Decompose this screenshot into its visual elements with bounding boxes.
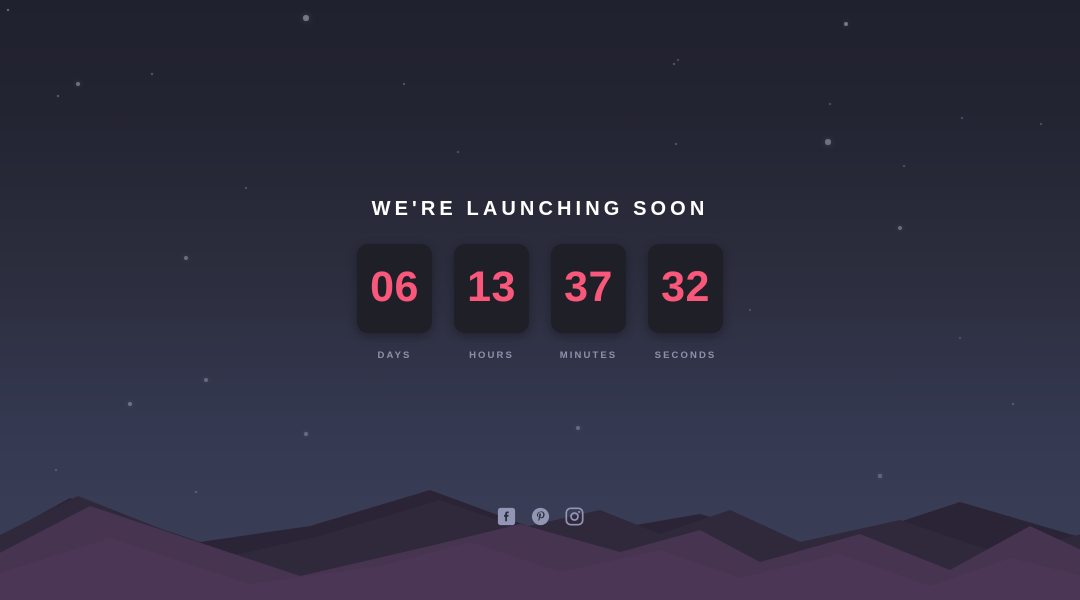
countdown-value: 13 (467, 266, 516, 309)
countdown-label: MINUTES (560, 350, 617, 361)
countdown-card: 37 (551, 244, 626, 333)
countdown-timer: 06DAYS13HOURS37MINUTES32SECONDS (346, 244, 734, 361)
facebook-icon[interactable] (497, 507, 516, 526)
countdown-card: 13 (454, 244, 529, 333)
countdown-value: 32 (661, 266, 710, 309)
launching-soon-page: WE'RE LAUNCHING SOON 06DAYS13HOURS37MINU… (0, 0, 1080, 600)
countdown-unit-hours: 13HOURS (454, 244, 529, 361)
instagram-icon[interactable] (565, 507, 584, 526)
countdown-unit-minutes: 37MINUTES (551, 244, 626, 361)
countdown-label: DAYS (378, 350, 412, 361)
countdown-card: 32 (648, 244, 723, 333)
countdown-unit-seconds: 32SECONDS (648, 244, 723, 361)
page-title: WE'RE LAUNCHING SOON (372, 198, 709, 221)
pinterest-icon[interactable] (531, 507, 550, 526)
countdown-label: HOURS (469, 350, 514, 361)
countdown-value: 06 (370, 266, 419, 309)
social-links (0, 507, 1080, 526)
countdown-value: 37 (564, 266, 613, 309)
countdown-card: 06 (357, 244, 432, 333)
countdown-label: SECONDS (655, 350, 717, 361)
countdown-unit-days: 06DAYS (357, 244, 432, 361)
